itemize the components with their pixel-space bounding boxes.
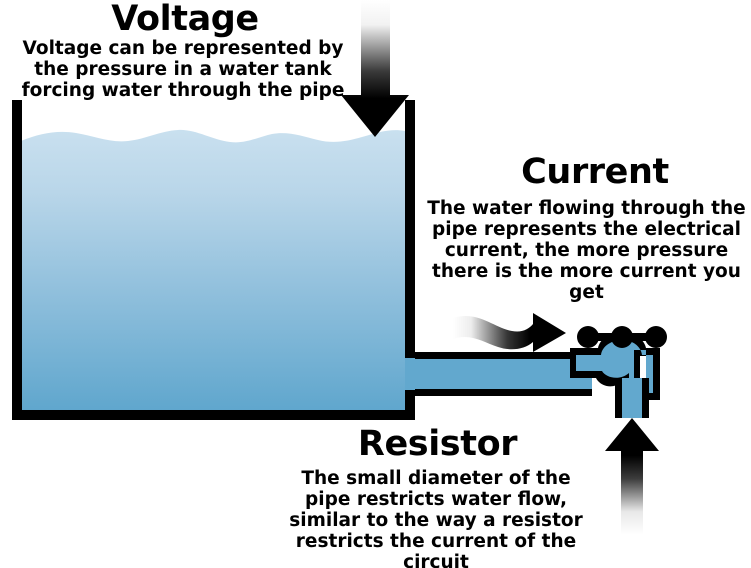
faucet-handle-knob-center [611,326,633,348]
restriction-arrow-up-icon [605,418,659,535]
resistor-description: The small diameter of the pipe restricts… [282,468,590,568]
flow-arrow-right-icon [453,313,566,352]
voltage-description: Voltage can be represented by the pressu… [8,38,358,101]
tank-water [21,130,405,412]
current-heading: Current [455,155,735,190]
outlet-pipe [405,352,592,396]
faucet-valve [570,326,667,418]
faucet-handle-knob-left [577,326,599,348]
resistor-heading: Resistor [300,427,575,462]
faucet-handle-knob-right [645,326,667,348]
diagram-canvas: Voltage Voltage can be represented by th… [0,0,751,568]
voltage-heading: Voltage [20,2,350,37]
current-description: The water flowing through the pipe repre… [424,198,749,303]
